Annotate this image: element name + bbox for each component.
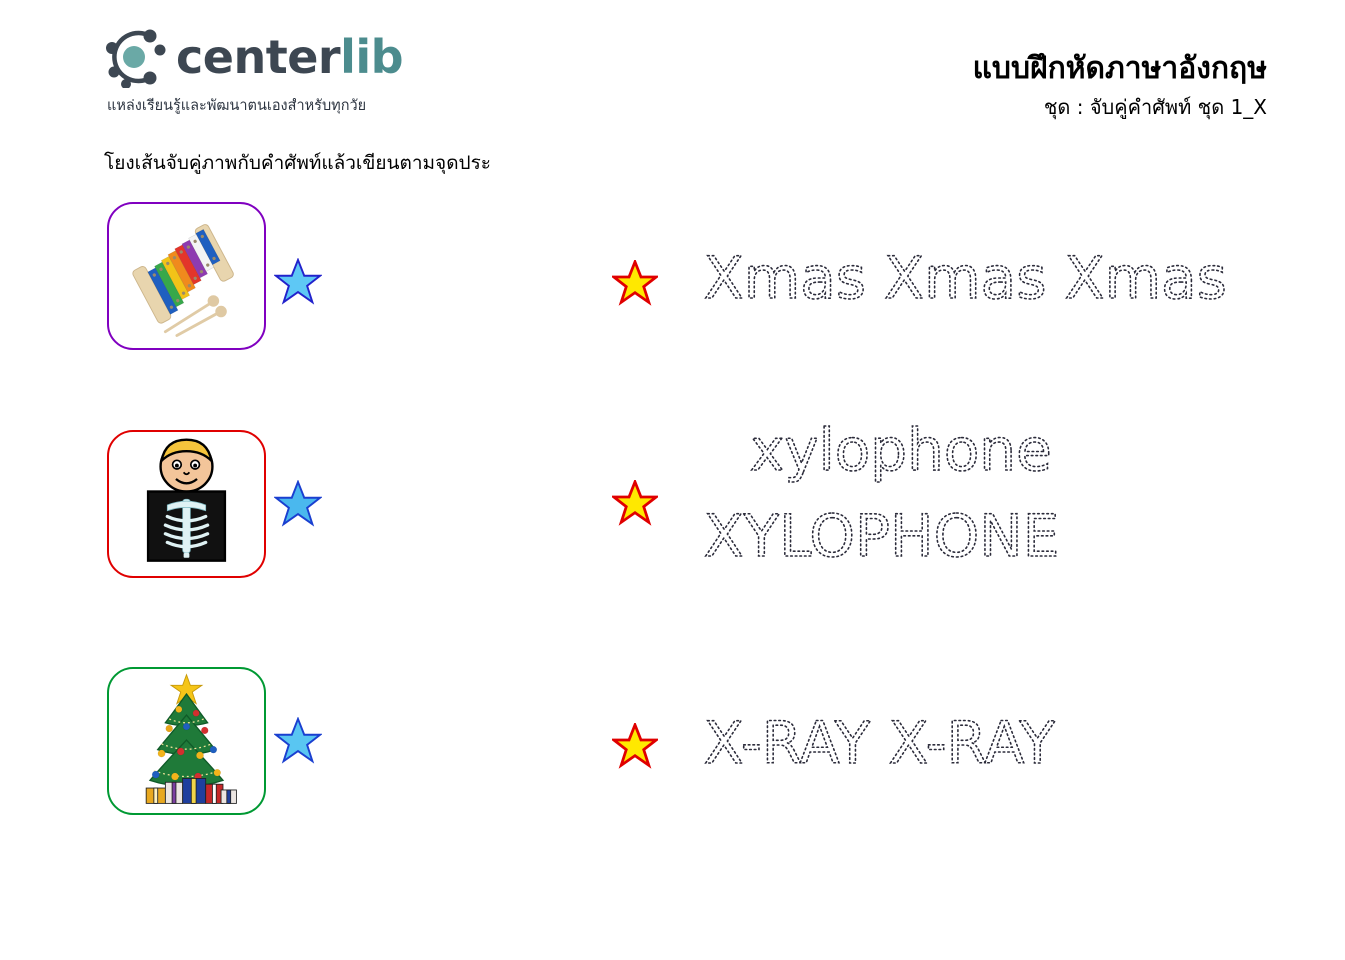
network-nodes-icon xyxy=(104,26,170,88)
brand-wordmark-lib: lib xyxy=(340,30,403,84)
svg-text:XYLOPHONE: XYLOPHONE xyxy=(704,502,1059,570)
logo-row: centerlib xyxy=(104,26,524,88)
worksheet-header: แบบฝึกหัดภาษาอังกฤษ ชุด : จับคู่คำศัพท์ … xyxy=(973,52,1267,123)
brand-logo-block: centerlib แหล่งเรียนรู้และพัฒนาตนเองสำหร… xyxy=(104,26,524,117)
blue-star-icon[interactable] xyxy=(274,480,322,528)
instruction-text: โยงเส้นจับคู่ภาพกับคำศัพท์แล้วเขียนตามจุ… xyxy=(104,148,491,178)
xylophone-image xyxy=(109,204,264,348)
trace-line-xmas-1: Xmas Xmas Xmas xyxy=(704,240,1345,320)
svg-text:Xmas Xmas Xmas: Xmas Xmas Xmas xyxy=(704,244,1227,312)
trace-stack-xmas: Xmas Xmas Xmas xyxy=(704,240,1345,320)
christmas-tree-image xyxy=(109,669,264,813)
brand-wordmark: centerlib xyxy=(176,34,403,80)
yellow-star-icon[interactable] xyxy=(612,480,658,526)
trace-stack-xylophone: xylophone XYLOPHONE xyxy=(704,410,1184,586)
svg-text:xylophone: xylophone xyxy=(750,416,1052,484)
svg-text:X-RAY X-RAY: X-RAY X-RAY xyxy=(704,709,1056,777)
worksheet-set-label: ชุด : จับคู่คำศัพท์ ชุด 1_X xyxy=(973,91,1267,123)
yellow-star-icon[interactable] xyxy=(612,723,658,769)
page-title: แบบฝึกหัดภาษาอังกฤษ xyxy=(973,52,1267,87)
picture-item-xmas[interactable] xyxy=(107,667,337,819)
picture-item-xylophone[interactable] xyxy=(107,202,337,354)
trace-line-xylophone-upper: XYLOPHONE xyxy=(704,498,1184,586)
trace-line-xylophone-lower: xylophone xyxy=(704,410,1184,498)
trace-stack-xray: X-RAY X-RAY xyxy=(704,705,1264,785)
yellow-star-icon[interactable] xyxy=(612,260,658,306)
brand-wordmark-center: center xyxy=(176,30,340,84)
blue-star-icon[interactable] xyxy=(274,717,322,765)
picture-box-xmas[interactable] xyxy=(107,667,266,815)
picture-item-xray[interactable] xyxy=(107,430,337,582)
x-ray-boy-image xyxy=(109,432,264,576)
blue-star-icon[interactable] xyxy=(274,258,322,306)
brand-tagline: แหล่งเรียนรู้และพัฒนาตนเองสำหรับทุกวัย xyxy=(107,94,524,117)
picture-box-xray[interactable] xyxy=(107,430,266,578)
picture-box-xylophone[interactable] xyxy=(107,202,266,350)
trace-line-xray-1: X-RAY X-RAY xyxy=(704,705,1264,785)
